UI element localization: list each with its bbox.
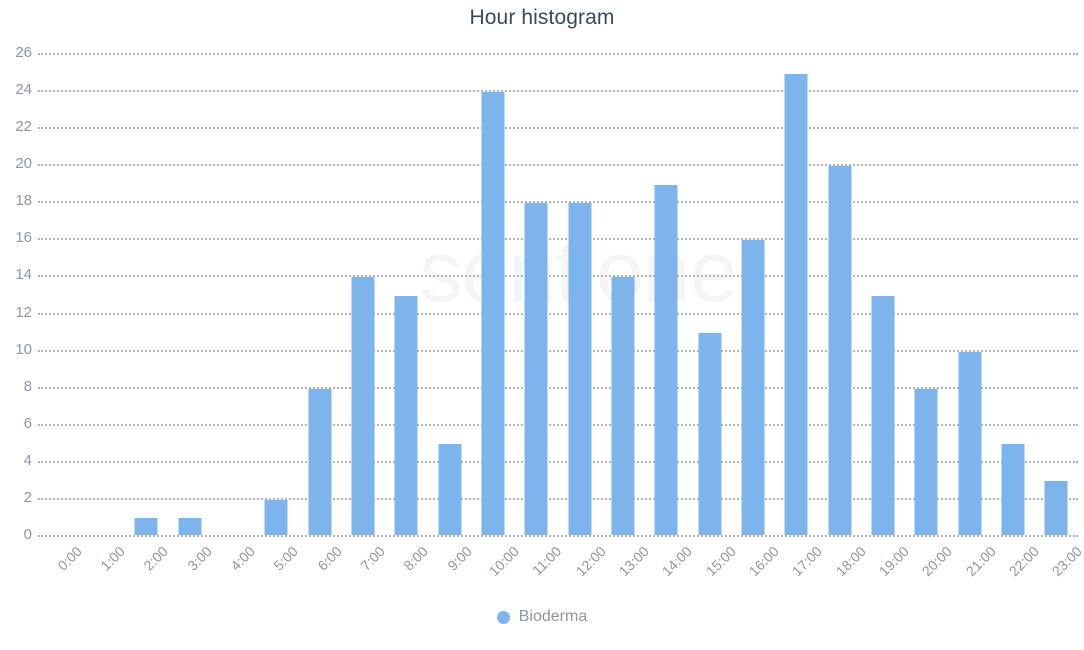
bar[interactable]: [871, 296, 894, 535]
bar[interactable]: [308, 389, 331, 535]
x-axis-slot: 3:00: [168, 537, 211, 607]
x-axis-slot: 11:00: [515, 537, 558, 607]
chart-legend: Bioderma: [0, 608, 1084, 626]
bar-slot: [905, 53, 948, 535]
x-axis-slot: 17:00: [775, 537, 818, 607]
bar-slot: [38, 53, 81, 535]
bar-slot: [81, 53, 124, 535]
bar[interactable]: [655, 185, 678, 535]
x-axis-slot: 16:00: [731, 537, 774, 607]
x-axis-slot: 14:00: [645, 537, 688, 607]
bar-slot: [515, 53, 558, 535]
bar[interactable]: [611, 277, 634, 535]
y-axis-tick-label: 2: [0, 489, 32, 506]
bar-slot: [818, 53, 861, 535]
bar[interactable]: [265, 500, 288, 535]
chart-title: Hour histogram: [0, 6, 1084, 30]
bar-slot: [861, 53, 904, 535]
x-axis-slot: 7:00: [341, 537, 384, 607]
x-axis-slot: 13:00: [601, 537, 644, 607]
x-axis-tick-label: 2:00: [141, 543, 172, 574]
bar[interactable]: [698, 333, 721, 535]
x-axis-slot: 15:00: [688, 537, 731, 607]
x-axis-slot: 1:00: [81, 537, 124, 607]
y-axis-tick-label: 12: [0, 304, 32, 321]
x-axis-tick-label: 5:00: [271, 543, 302, 574]
x-axis: 0:001:002:003:004:005:006:007:008:009:00…: [38, 537, 1078, 607]
y-axis-tick-label: 24: [0, 81, 32, 98]
y-axis-tick-label: 4: [0, 452, 32, 469]
x-axis-slot: 10:00: [471, 537, 514, 607]
x-axis-slot: 2:00: [125, 537, 168, 607]
bar[interactable]: [1045, 481, 1068, 535]
x-axis-slot: 4:00: [211, 537, 254, 607]
bar[interactable]: [828, 166, 851, 535]
x-axis-slot: 20:00: [905, 537, 948, 607]
bar[interactable]: [568, 203, 591, 535]
bar-slot: [428, 53, 471, 535]
bar-slot: [211, 53, 254, 535]
y-axis-tick-label: 14: [0, 266, 32, 283]
x-axis-slot: 12:00: [558, 537, 601, 607]
x-axis-slot: 0:00: [38, 537, 81, 607]
y-axis-tick-label: 6: [0, 415, 32, 432]
bar-slot: [775, 53, 818, 535]
x-axis-slot: 19:00: [861, 537, 904, 607]
x-axis-slot: 8:00: [385, 537, 428, 607]
bar-slot: [471, 53, 514, 535]
bar-slot: [731, 53, 774, 535]
bar-slot: [125, 53, 168, 535]
bar-slot: [688, 53, 731, 535]
x-axis-slot: 18:00: [818, 537, 861, 607]
x-axis-tick-label: 23:00: [1049, 543, 1084, 579]
bar[interactable]: [178, 518, 201, 535]
x-axis-slot: 6:00: [298, 537, 341, 607]
bar[interactable]: [481, 92, 504, 535]
legend-item[interactable]: Bioderma: [497, 608, 587, 626]
bar[interactable]: [395, 296, 418, 535]
bar[interactable]: [135, 518, 158, 535]
bar[interactable]: [785, 74, 808, 535]
bar-slot: [385, 53, 428, 535]
y-axis-tick-label: 18: [0, 192, 32, 209]
x-axis-tick-label: 6:00: [314, 543, 345, 574]
bar-slot: [298, 53, 341, 535]
bar[interactable]: [915, 389, 938, 535]
bar-slot: [991, 53, 1034, 535]
bar[interactable]: [958, 352, 981, 535]
bar[interactable]: [741, 240, 764, 535]
x-axis-tick-label: 8:00: [401, 543, 432, 574]
bar-slot: [601, 53, 644, 535]
x-axis-tick-label: 7:00: [357, 543, 388, 574]
y-axis-tick-label: 20: [0, 155, 32, 172]
legend-item-label: Bioderma: [519, 608, 587, 626]
y-axis-tick-label: 0: [0, 526, 32, 543]
x-axis-tick-label: 1:00: [97, 543, 128, 574]
bar[interactable]: [525, 203, 548, 535]
bar-slot: [645, 53, 688, 535]
bars-group: [38, 53, 1078, 535]
bar-slot: [255, 53, 298, 535]
circle-marker-icon: [497, 611, 510, 624]
x-axis-slot: 9:00: [428, 537, 471, 607]
x-axis-slot: 23:00: [1035, 537, 1078, 607]
x-axis-tick-label: 3:00: [184, 543, 215, 574]
bar-slot: [558, 53, 601, 535]
y-axis-tick-label: 26: [0, 44, 32, 61]
bar[interactable]: [351, 277, 374, 535]
bar-slot: [168, 53, 211, 535]
bar-slot: [948, 53, 991, 535]
x-axis-slot: 22:00: [991, 537, 1034, 607]
chart-container: Hour histogram sentione 0246810121416182…: [0, 0, 1084, 650]
x-axis-slot: 21:00: [948, 537, 991, 607]
x-axis-tick-label: 4:00: [227, 543, 258, 574]
plot-area: sentione 02468101214161820222426: [38, 53, 1078, 535]
bar[interactable]: [1001, 444, 1024, 535]
bar-slot: [1035, 53, 1078, 535]
x-axis-tick-label: 9:00: [444, 543, 475, 574]
y-axis-tick-label: 8: [0, 378, 32, 395]
bar[interactable]: [438, 444, 461, 535]
y-axis-tick-label: 16: [0, 229, 32, 246]
y-axis-tick-label: 22: [0, 118, 32, 135]
x-axis-tick-label: 0:00: [54, 543, 85, 574]
bar-slot: [341, 53, 384, 535]
x-axis-slot: 5:00: [255, 537, 298, 607]
y-axis-tick-label: 10: [0, 341, 32, 358]
